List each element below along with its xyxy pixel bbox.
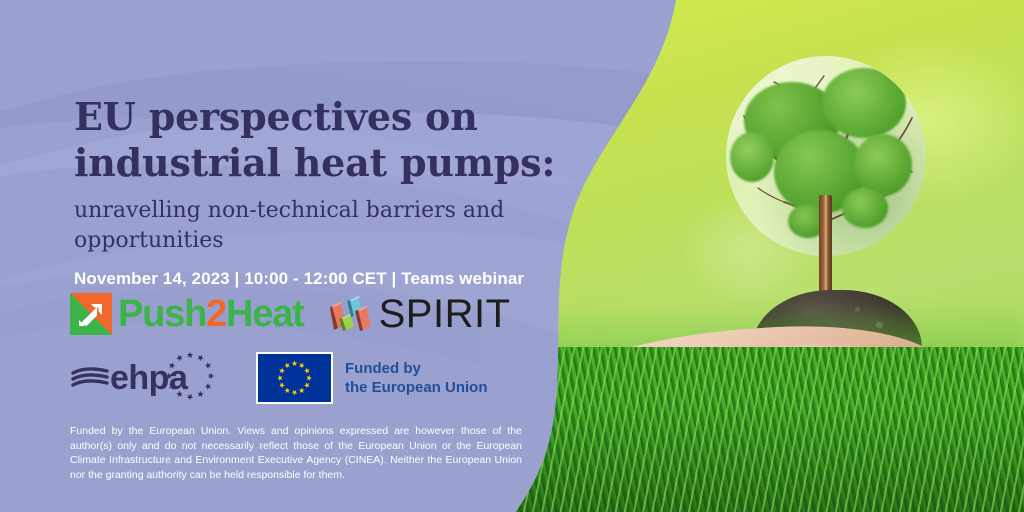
- funding-disclaimer: Funded by the European Union. Views and …: [70, 424, 522, 482]
- push2heat-word-heat: Heat: [226, 293, 304, 335]
- banner-content: EU perspectives on industrial heat pumps…: [0, 0, 1024, 512]
- page-subtitle: unravelling non-technical barriers and o…: [74, 196, 574, 256]
- logo-row-secondary: ehpa: [70, 352, 488, 404]
- webinar-promo-banner: EU perspectives on industrial heat pumps…: [0, 0, 1024, 512]
- page-title: EU perspectives on industrial heat pumps…: [74, 94, 654, 186]
- push2heat-wordmark: Push2Heat: [118, 295, 304, 333]
- push2heat-arrow-square-icon: [70, 293, 112, 335]
- event-datetime: November 14, 2023 | 10:00 - 12:00 CET | …: [74, 269, 524, 289]
- eu-funding-line-2: the European Union: [345, 379, 488, 396]
- spirit-logo: SPIRIT: [330, 294, 511, 334]
- spirit-wordmark: SPIRIT: [379, 294, 511, 334]
- eu-funding-text: Funded by the European Union: [345, 359, 488, 397]
- push2heat-word-two: 2: [206, 293, 226, 335]
- eu-funding-badge: Funded by the European Union: [256, 352, 488, 404]
- push2heat-word-push: Push: [118, 293, 206, 335]
- eu-flag-icon: [256, 352, 333, 404]
- ehpa-logo: ehpa: [70, 355, 220, 401]
- ehpa-star-circle-icon: [162, 351, 218, 401]
- ehpa-waves-icon: [70, 366, 110, 390]
- spirit-blocks-icon: [330, 294, 372, 334]
- push2heat-logo: Push2Heat: [70, 293, 304, 335]
- eu-funding-line-1: Funded by: [345, 360, 421, 377]
- logo-row-primary: Push2Heat: [70, 293, 511, 335]
